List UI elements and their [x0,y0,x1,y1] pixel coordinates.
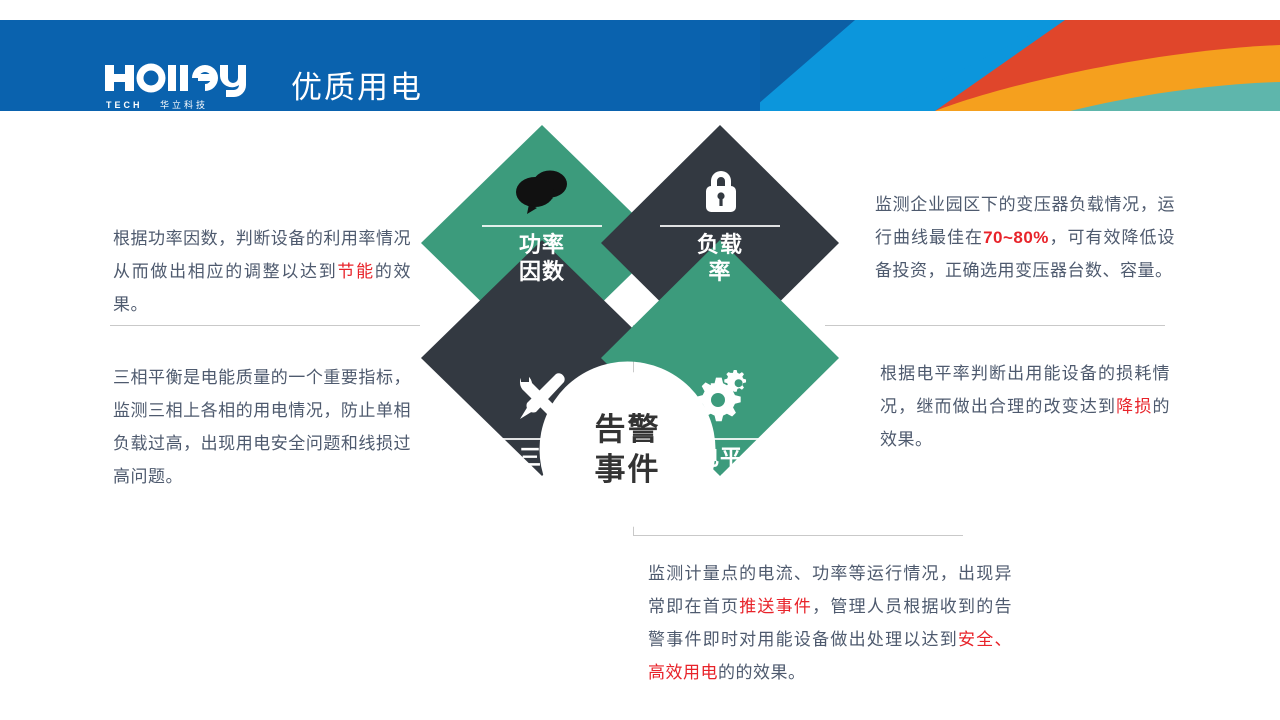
divider-bottom [633,535,963,536]
highlighted-value: 70~80% [983,228,1049,247]
body-text: 三相平衡是电能质量的一个重要指标，监测三相上各相的用电情况，防止单相负载过高，出… [113,368,411,486]
page-title: 优质用电 [291,68,423,108]
highlighted-text: 推送事件 [739,597,812,616]
body-text: 的的效果。 [718,663,806,682]
page-header: TECH 华立科技 优质用电 [0,20,1280,111]
node-power-factor-icon [512,168,572,214]
holley-logo: TECH 华立科技 [105,63,255,111]
divider-right [825,325,1165,326]
svg-text:TECH: TECH [106,100,143,110]
highlighted-text: 节能 [337,262,374,281]
diagram-center-circle: 告警事件 [550,372,705,527]
rule-power-factor [482,225,602,227]
divider-left [110,325,420,326]
rule-load-rate [660,225,780,227]
node-load-rate-icon [701,170,741,216]
voltage-balance-rate-description: 根据电平率判断出用能设备的损耗情况，继而做出合理的改变达到降损的效果。 [880,357,1170,456]
header-swoosh-decoration [760,20,1280,111]
three-phase-balance-description: 三相平衡是电能质量的一个重要指标，监测三相上各相的用电情况，防止单相负载过高，出… [113,361,411,493]
load-rate-description: 监测企业园区下的变压器负载情况，运行曲线最佳在70~80%，可有效降低设备投资，… [875,188,1175,287]
alarm-event-description: 监测计量点的电流、功率等运行情况，出现异常即在首页推送事件，管理人员根据收到的告… [648,557,1012,689]
alarm-event-diagram: 功率 因数 负载 率 三相 平衡 [420,125,840,525]
power-factor-description: 根据功率因数，判断设备的利用率情况从而做出相应的调整以达到节能的效果。 [113,222,411,321]
highlighted-text: 降损 [1116,397,1152,416]
svg-text:华立科技: 华立科技 [160,99,208,110]
diagram-center-label: 告警事件 [595,410,661,490]
node-voltage-balance-rate-icon [692,368,754,422]
